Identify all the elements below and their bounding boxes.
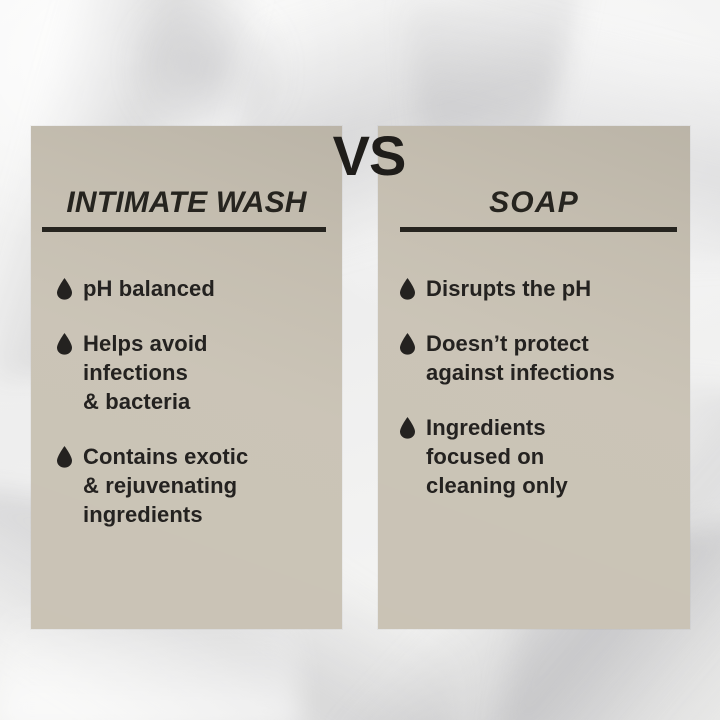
title-underline: [42, 227, 326, 232]
water-drop-icon: [400, 333, 415, 355]
water-drop-icon: [400, 417, 415, 439]
list-item: pH balanced: [57, 274, 332, 303]
list-item-label: Disrupts the pH: [426, 274, 591, 303]
water-drop-icon: [400, 278, 415, 300]
list-item: Doesn’t protectagainst infections: [400, 329, 680, 387]
water-drop-icon: [57, 333, 72, 355]
water-drop-icon: [57, 446, 72, 468]
list-item: Disrupts the pH: [400, 274, 680, 303]
panel-soap: SOAP Disrupts the pH: [378, 126, 690, 629]
list-item-label: Ingredientsfocused oncleaning only: [426, 413, 568, 500]
panel-title-soap: SOAP: [378, 186, 690, 220]
list-item-label: pH balanced: [83, 274, 215, 303]
panel-title-intimate-wash: INTIMATE WASH: [31, 186, 342, 220]
comparison-infographic: INTIMATE WASH pH balanced: [0, 0, 720, 720]
list-item-label: Contains exotic& rejuvenatingingredients: [83, 442, 248, 529]
list-item: Helps avoidinfections& bacteria: [57, 329, 332, 416]
list-item-label: Doesn’t protectagainst infections: [426, 329, 615, 387]
list-item: Ingredientsfocused oncleaning only: [400, 413, 680, 500]
title-underline: [400, 227, 677, 232]
versus-label: VS: [322, 128, 416, 184]
panel-intimate-wash: INTIMATE WASH pH balanced: [31, 126, 342, 629]
list-item: Contains exotic& rejuvenatingingredients: [57, 442, 332, 529]
list-item-label: Helps avoidinfections& bacteria: [83, 329, 208, 416]
water-drop-icon: [57, 278, 72, 300]
bullet-list-intimate-wash: pH balanced Helps avoidinfections& bacte…: [57, 274, 332, 555]
bullet-list-soap: Disrupts the pH Doesn’t protectagainst i…: [400, 274, 680, 526]
